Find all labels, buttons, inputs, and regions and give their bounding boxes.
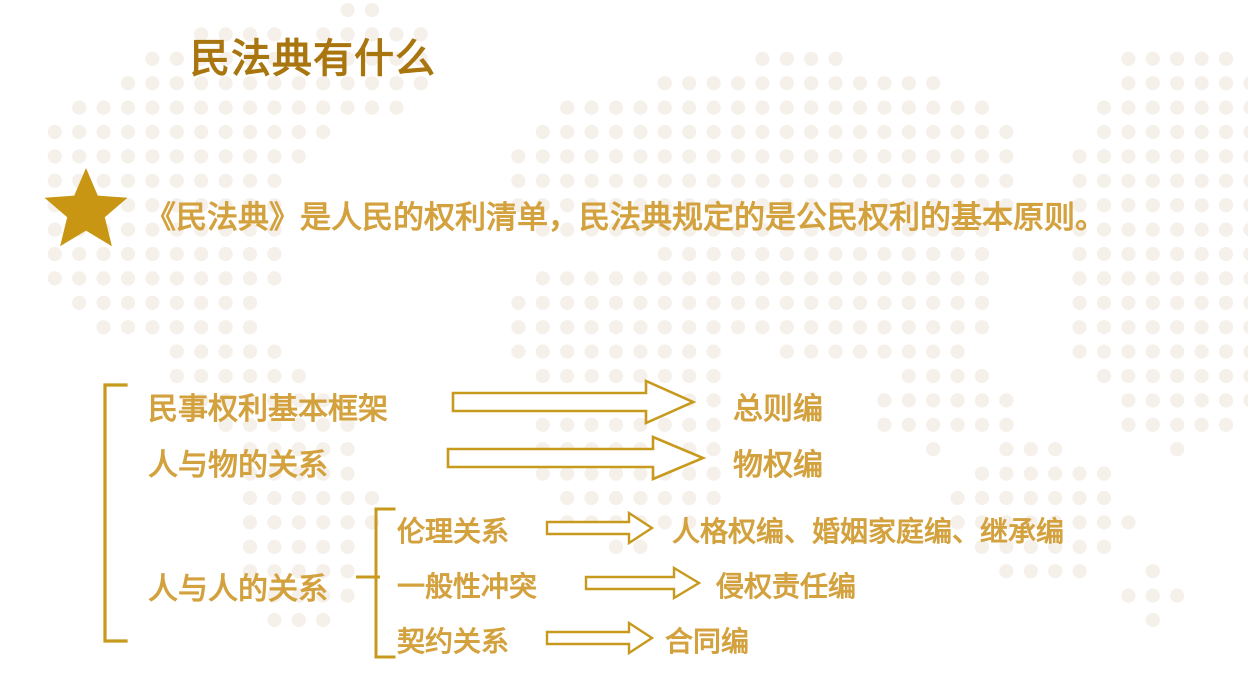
- diagram-sub-result-2: 合同编: [665, 620, 749, 660]
- diagram-sub-result-0: 人格权编、婚姻家庭编、继承编: [672, 510, 1064, 550]
- diagram-sub-label-1: 一般性冲突: [397, 565, 537, 605]
- inner-bracket: [372, 506, 398, 660]
- diagram-sub-label-2: 契约关系: [397, 620, 509, 660]
- block-arrow-right-sub-0: [545, 511, 655, 545]
- diagram-sub-result-1: 侵权责任编: [716, 565, 856, 605]
- diagram-sub-label-0: 伦理关系: [397, 510, 509, 550]
- diagram-result-0: 总则编: [733, 384, 823, 428]
- block-arrow-right-sub-1: [584, 566, 702, 600]
- slide-canvas: 民法典有什么 《民法典》是人民的权利清单，民法典规定的是公民权利的基本原则。 民…: [0, 0, 1248, 692]
- block-arrow-right-1: [445, 434, 707, 482]
- outer-bracket: [100, 382, 134, 644]
- diagram-label-1: 人与物的关系: [148, 440, 328, 484]
- block-arrow-right-0: [450, 378, 696, 426]
- diagram-group-label: 人与人的关系: [148, 564, 328, 608]
- relationship-diagram: 民事权利基本框架 总则编 人与物的关系 物权编 人与人的关系 伦理关系 人格权编…: [0, 0, 1248, 692]
- diagram-label-0: 民事权利基本框架: [148, 384, 388, 428]
- block-arrow-right-sub-2: [545, 621, 655, 655]
- diagram-result-1: 物权编: [733, 440, 823, 484]
